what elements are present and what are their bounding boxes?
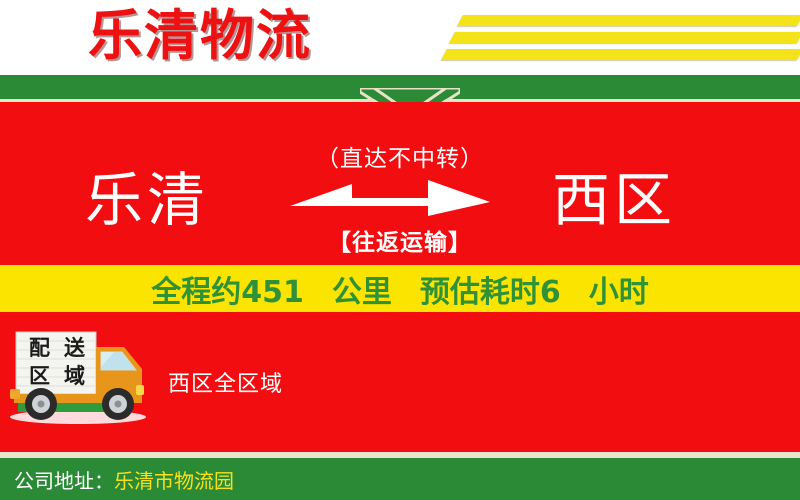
distance-value: 全程约451 [151, 267, 304, 311]
round-trip-note: 【往返运输】 [0, 223, 800, 257]
stripe-3 [441, 49, 800, 60]
logistics-banner: 乐清物流 （直达不中转） 乐清 西区 【往返运输】 全程约451 公里 预估耗时… [0, 0, 800, 500]
company-logo-text: 乐清物流 [88, 6, 312, 66]
stripe-2 [449, 32, 800, 43]
coverage-area-text: 西区全区域 [168, 366, 283, 398]
address-value: 乐清市物流园 [114, 465, 234, 494]
duration-value: 预估耗时6 [420, 267, 561, 311]
distance-unit: 公里 [332, 267, 392, 311]
double-arrow-icon [290, 176, 490, 221]
trip-info-bar: 全程约451 公里 预估耗时6 小时 [0, 265, 800, 312]
duration-unit: 小时 [589, 267, 649, 311]
delivery-truck-icon [6, 327, 156, 427]
double-arrow-svg [290, 176, 490, 221]
footer-bar: 公司地址： 乐清市物流园 [0, 458, 800, 500]
address-label: 公司地址： [14, 465, 114, 494]
trip-info-row: 全程约451 公里 预估耗时6 小时 [137, 267, 663, 311]
stripe-1 [457, 15, 800, 26]
decorative-stripes [420, 12, 800, 68]
